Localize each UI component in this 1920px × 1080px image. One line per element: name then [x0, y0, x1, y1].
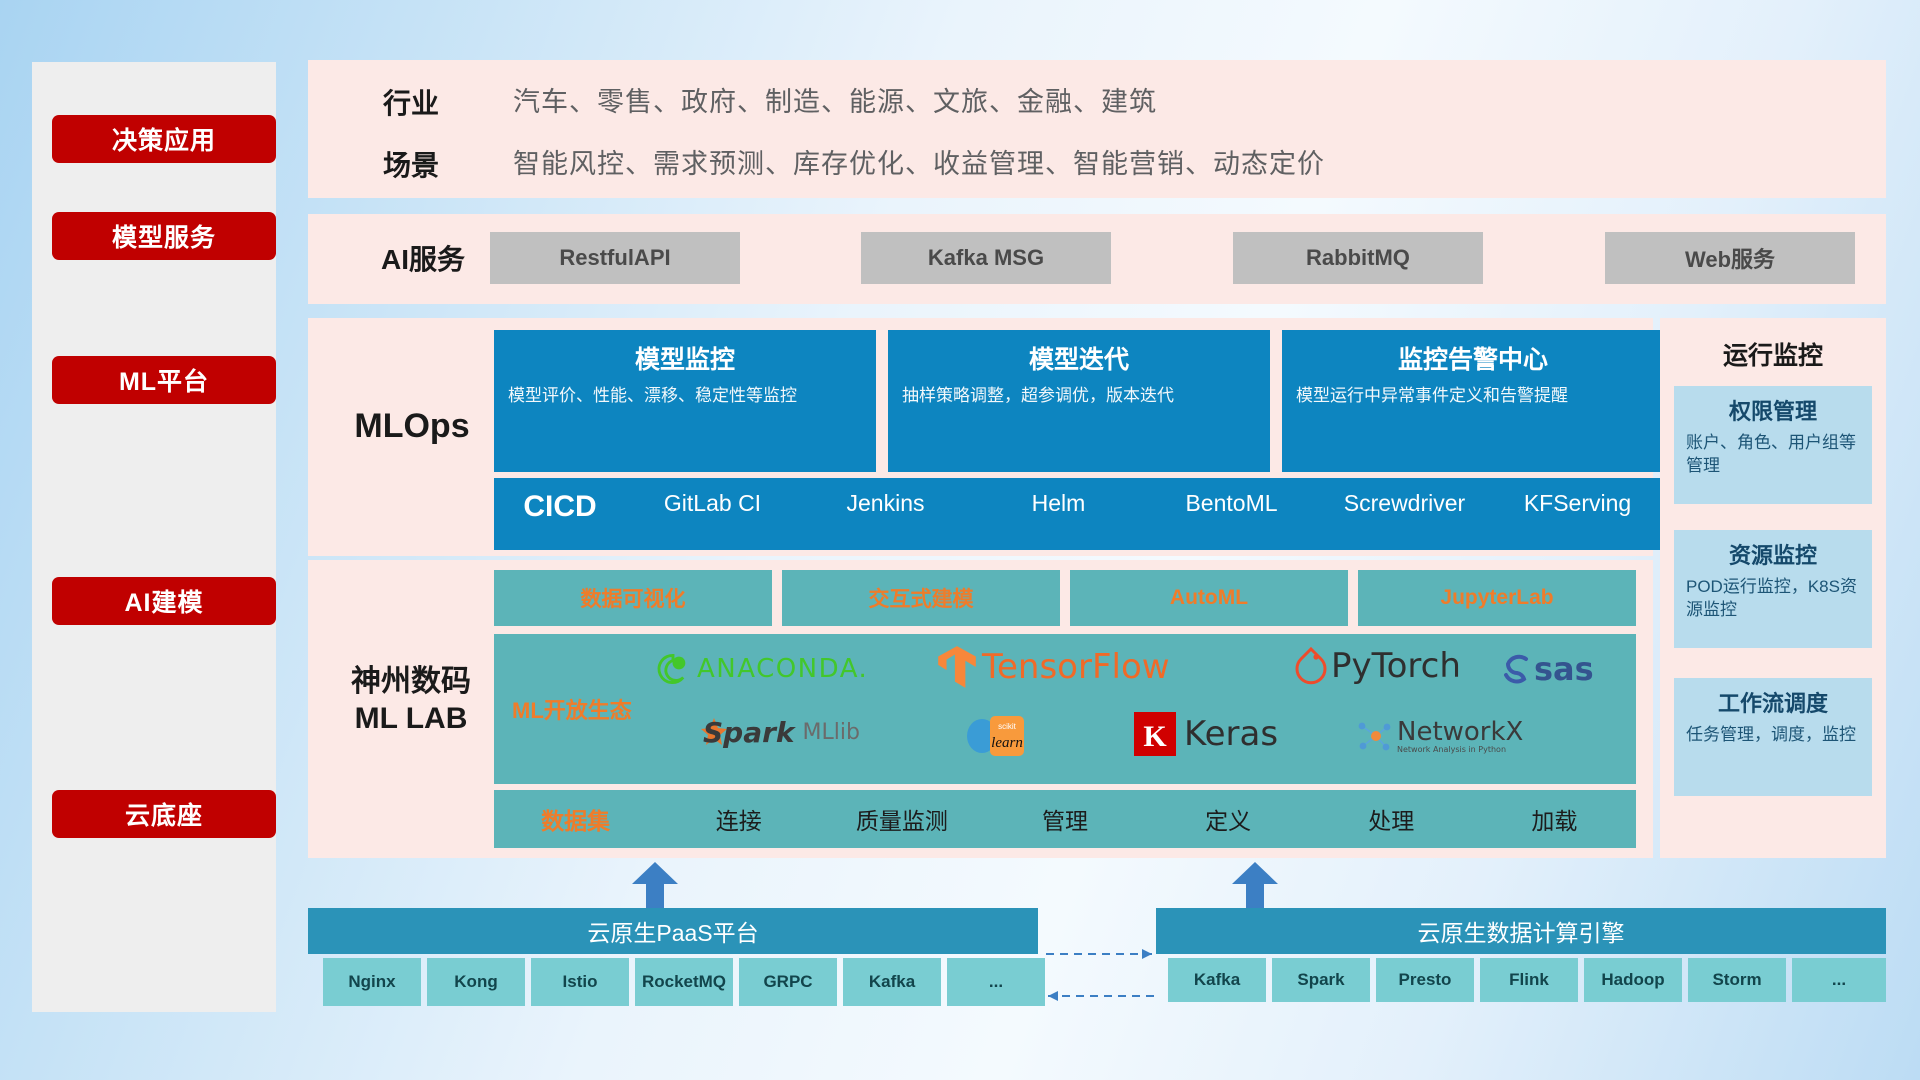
mlops-card-model-monitor[interactable]: 模型监控 模型评价、性能、漂移、稳定性等监控 [494, 330, 876, 472]
chip-presto[interactable]: Presto [1376, 958, 1474, 1002]
dataset-process[interactable]: 处理 [1310, 802, 1473, 836]
tab-interactive-modeling[interactable]: 交互式建模 [782, 570, 1060, 626]
chip-grpc[interactable]: GRPC [739, 958, 837, 1006]
networkx-logo: NetworkX Network Analysis in Python [1354, 718, 1523, 754]
sas-glyph [1499, 652, 1533, 686]
ai-service-kafka-msg[interactable]: Kafka MSG [861, 232, 1111, 284]
up-arrow-right [1230, 862, 1280, 910]
industry-panel: 行业 汽车、零售、政府、制造、能源、文旅、金融、建筑 场景 智能风控、需求预测、… [308, 60, 1886, 198]
chip-storm[interactable]: Storm [1688, 958, 1786, 1002]
scikit-glyph: scikit learn [964, 714, 1028, 756]
ai-service-panel: AI服务 RestfulAPI Kafka MSG RabbitMQ Web服务 [308, 214, 1886, 304]
dataset-row: 数据集 连接 质量监测 管理 定义 处理 加载 [494, 790, 1636, 848]
monitoring-title: 运行监控 [1660, 336, 1886, 372]
anaconda-label: ANACONDA. [697, 654, 868, 684]
cicd-bar: CICD GitLab CI Jenkins Helm BentoML Scre… [494, 478, 1664, 550]
rail-item-ai-modeling[interactable]: AI建模 [52, 577, 276, 625]
ecosystem-label: ML开放生态 [512, 693, 632, 725]
chip-hadoop[interactable]: Hadoop [1584, 958, 1682, 1002]
dataset-manage[interactable]: 管理 [983, 802, 1146, 836]
tensorflow-label: TensorFlow [982, 647, 1170, 687]
tab-jupyterlab[interactable]: JupyterLab [1358, 570, 1636, 626]
rail-item-decision-app[interactable]: 决策应用 [52, 115, 276, 163]
ml-lab-label: 神州数码 ML LAB [316, 660, 506, 740]
ml-lab-label-line2: ML LAB [355, 700, 468, 738]
pytorch-logo: PyTorch [1294, 646, 1461, 686]
card-title: 模型迭代 [902, 340, 1256, 376]
rail-item-model-service[interactable]: 模型服务 [52, 212, 276, 260]
anaconda-logo: ANACONDA. [656, 652, 868, 686]
rail-item-cloud-base[interactable]: 云底座 [52, 790, 276, 838]
svg-text:scikit: scikit [998, 722, 1017, 731]
keras-label: Keras [1184, 714, 1278, 754]
cloud-data-engine-bar[interactable]: 云原生数据计算引擎 [1156, 908, 1886, 954]
networkx-glyph [1354, 718, 1392, 754]
card-title: 监控告警中心 [1296, 340, 1650, 376]
cicd-bentoml[interactable]: BentoML [1145, 478, 1318, 515]
pytorch-glyph [1294, 646, 1328, 686]
chip-istio[interactable]: Istio [531, 958, 629, 1006]
tensorflow-glyph [936, 644, 978, 690]
chip-nginx[interactable]: Nginx [323, 958, 421, 1006]
chip-kafka-left[interactable]: Kafka [843, 958, 941, 1006]
chip-kong[interactable]: Kong [427, 958, 525, 1006]
cicd-kfserving[interactable]: KFServing [1491, 478, 1664, 515]
keras-glyph: K [1134, 712, 1176, 756]
cicd-gitlab-ci[interactable]: GitLab CI [626, 478, 799, 515]
industry-label: 行业 [336, 78, 486, 128]
scenario-value: 智能风控、需求预测、库存优化、收益管理、智能营销、动态定价 [513, 142, 1325, 181]
monitoring-card-workflow[interactable]: 工作流调度 任务管理，调度，监控 [1674, 678, 1872, 796]
cicd-jenkins[interactable]: Jenkins [799, 478, 972, 515]
up-arrow-left [630, 862, 680, 910]
mlops-label: MLOps [322, 396, 502, 456]
dataset-load[interactable]: 加载 [1473, 802, 1636, 836]
dataset-label: 数据集 [494, 802, 657, 836]
keras-logo: K Keras [1134, 712, 1278, 756]
tensorflow-logo: TensorFlow [936, 644, 1170, 690]
dashed-connectors [1040, 940, 1160, 1010]
dataset-define[interactable]: 定义 [1147, 802, 1310, 836]
card-desc: 模型运行中异常事件定义和告警提醒 [1296, 384, 1650, 407]
networkx-label: NetworkX [1397, 719, 1523, 745]
ai-service-web-service[interactable]: Web服务 [1605, 232, 1855, 284]
chip-more-right[interactable]: ... [1792, 958, 1886, 1002]
cicd-screwdriver[interactable]: Screwdriver [1318, 478, 1491, 515]
mlops-panel: MLOps 模型监控 模型评价、性能、漂移、稳定性等监控 模型迭代 抽样策略调整… [308, 318, 1653, 556]
rail-item-ml-platform[interactable]: ML平台 [52, 356, 276, 404]
chip-spark[interactable]: Spark [1272, 958, 1370, 1002]
scenario-label: 场景 [336, 140, 486, 190]
monitoring-panel: 运行监控 权限管理 账户、角色、用户组等管理 资源监控 POD运行监控，K8S资… [1660, 318, 1886, 858]
chip-more-left[interactable]: ... [947, 958, 1045, 1006]
card-desc: 模型评价、性能、漂移、稳定性等监控 [508, 384, 862, 407]
mlops-card-model-iteration[interactable]: 模型迭代 抽样策略调整，超参调优，版本迭代 [888, 330, 1270, 472]
scikit-learn-logo: scikit learn [964, 714, 1028, 756]
industry-value: 汽车、零售、政府、制造、能源、文旅、金融、建筑 [513, 80, 1157, 119]
svg-text:learn: learn [991, 735, 1023, 751]
card-desc: 抽样策略调整，超参调优，版本迭代 [902, 384, 1256, 407]
left-rail [32, 62, 276, 1012]
card-title: 权限管理 [1686, 394, 1860, 426]
card-desc: POD运行监控，K8S资源监控 [1686, 576, 1860, 622]
tab-automl[interactable]: AutoML [1070, 570, 1348, 626]
sas-logo: sas [1499, 650, 1594, 688]
cloud-paas-bar[interactable]: 云原生PaaS平台 [308, 908, 1038, 954]
tab-data-visualization[interactable]: 数据可视化 [494, 570, 772, 626]
card-title: 模型监控 [508, 340, 862, 376]
card-desc: 账户、角色、用户组等管理 [1686, 432, 1860, 478]
card-desc: 任务管理，调度，监控 [1686, 724, 1860, 747]
ecosystem-band: ML开放生态 ANACONDA. TensorFlow [494, 634, 1636, 784]
chip-kafka-right[interactable]: Kafka [1168, 958, 1266, 1002]
ai-service-rabbitmq[interactable]: RabbitMQ [1233, 232, 1483, 284]
monitoring-card-resources[interactable]: 资源监控 POD运行监控，K8S资源监控 [1674, 530, 1872, 648]
chip-flink[interactable]: Flink [1480, 958, 1578, 1002]
card-title: 资源监控 [1686, 538, 1860, 570]
mlops-card-alert-center[interactable]: 监控告警中心 模型运行中异常事件定义和告警提醒 [1282, 330, 1664, 472]
dataset-connect[interactable]: 连接 [657, 802, 820, 836]
pytorch-label: PyTorch [1331, 646, 1461, 686]
cicd-helm[interactable]: Helm [972, 478, 1145, 515]
anaconda-glyph [656, 652, 690, 686]
ai-modeling-panel: 神州数码 ML LAB 数据可视化 交互式建模 AutoML JupyterLa… [308, 560, 1653, 858]
diagram-canvas: 决策应用 模型服务 ML平台 AI建模 云底座 行业 汽车、零售、政府、制造、能… [0, 0, 1920, 1080]
card-title: 工作流调度 [1686, 686, 1860, 718]
ml-lab-label-line1: 神州数码 [351, 663, 471, 701]
sas-label: sas [1534, 650, 1594, 688]
spark-mllib-logo: Spark MLlib [689, 716, 860, 749]
dataset-quality[interactable]: 质量监测 [820, 802, 983, 836]
monitoring-card-permissions[interactable]: 权限管理 账户、角色、用户组等管理 [1674, 386, 1872, 504]
svg-text:K: K [1143, 720, 1167, 753]
chip-rocketmq[interactable]: RocketMQ [635, 958, 733, 1006]
cicd-label: CICD [494, 478, 626, 523]
ai-service-restful-api[interactable]: RestfulAPI [490, 232, 740, 284]
